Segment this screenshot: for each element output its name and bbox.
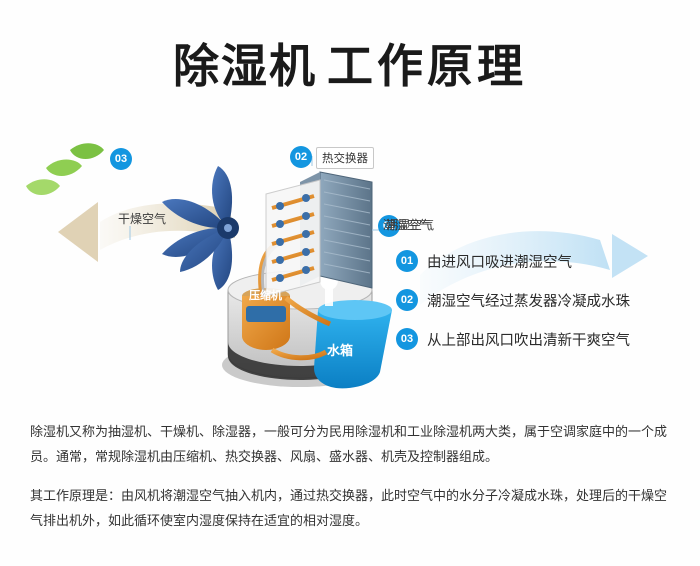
description-block: 除湿机又称为抽湿机、干燥机、除湿器，一般可分为民用除湿机和工业除湿机两大类，属于… [30, 420, 675, 534]
legend-text-02: 潮湿空气经过蒸发器冷凝成水珠 [427, 290, 630, 311]
label-compressor: 压缩机 [249, 287, 282, 303]
legend-list: 01 由进风口吸进潮湿空气 02 潮湿空气经过蒸发器冷凝成水珠 03 从上部出风… [396, 250, 686, 367]
compressor-label-plate [246, 306, 286, 322]
label-heat-exchanger: 热交换器 [316, 147, 374, 169]
compressor-body [242, 296, 290, 350]
legend-badge-02: 02 [396, 289, 418, 311]
page-title-sub: 工作原理 [327, 39, 527, 93]
label-humid-air-text: 潮湿空气 [386, 216, 434, 233]
page-title: 除湿机工作原理 [0, 30, 700, 96]
description-paragraph-2: 其工作原理是：由风机将潮湿空气抽入机内，通过热交换器，此时空气中的水分子冷凝成水… [30, 484, 675, 534]
legend-item: 03 从上部出风口吹出清新干爽空气 [396, 328, 686, 350]
legend-badge-03: 03 [396, 328, 418, 350]
leaf-icon [26, 143, 104, 195]
legend-item: 01 由进风口吸进潮湿空气 [396, 250, 686, 272]
label-dry-air: 干燥空气 [118, 210, 166, 227]
page-root: 除湿机工作原理 [0, 0, 700, 566]
dry-airflow-head [58, 202, 98, 262]
legend-text-01: 由进风口吸进潮湿空气 [427, 251, 572, 272]
description-paragraph-1: 除湿机又称为抽湿机、干燥机、除湿器，一般可分为民用除湿机和工业除湿机两大类，属于… [30, 420, 675, 470]
page-title-main: 除湿机 [173, 39, 317, 93]
legend-item: 02 潮湿空气经过蒸发器冷凝成水珠 [396, 289, 686, 311]
legend-badge-01: 01 [396, 250, 418, 272]
evaporator-coil [266, 180, 320, 296]
legend-text-03: 从上部出风口吹出清新干爽空气 [427, 329, 630, 350]
fan-hub-center [224, 224, 232, 232]
label-water-tank: 水箱 [327, 340, 353, 359]
badge-02: 02 [290, 146, 312, 168]
badge-03: 03 [110, 148, 132, 170]
